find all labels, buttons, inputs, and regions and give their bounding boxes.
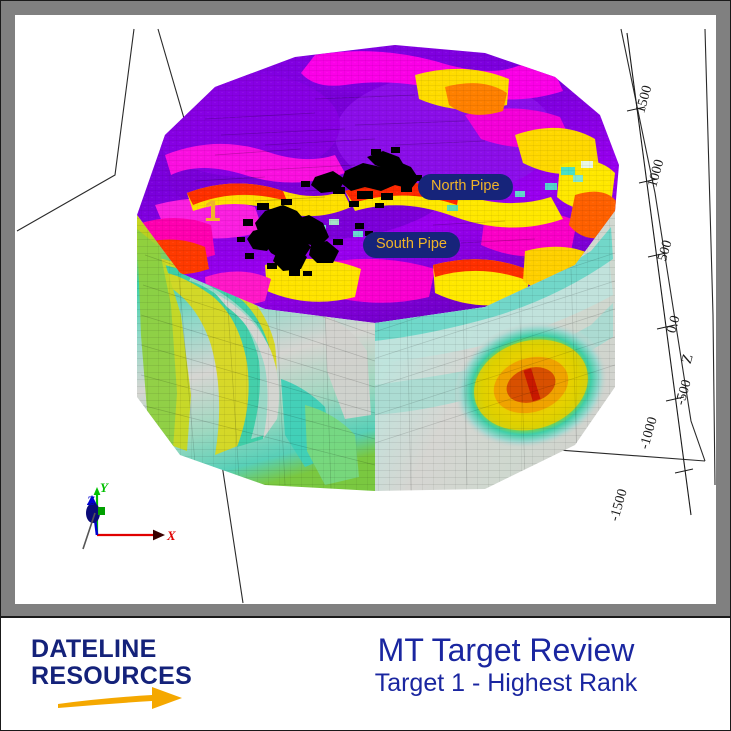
orientation-triad (83, 487, 165, 549)
model-viewport[interactable]: 1500 1000 500 0.0 -500 -1000 -1500 Z X Y… (15, 15, 716, 604)
logo-arrow-icon (56, 682, 206, 712)
slide-title-block: MT Target Review Target 1 - Highest Rank (301, 632, 711, 698)
north-pipe-label[interactable]: North Pipe (418, 174, 513, 200)
triad-y-label: Y (100, 480, 108, 496)
logo-line-1: DATELINE (31, 636, 261, 663)
slide-title: MT Target Review (301, 632, 711, 668)
slide-subtitle: Target 1 - Highest Rank (301, 668, 711, 698)
triad-x-label: X (167, 528, 176, 544)
footer-bar: DATELINE RESOURCES MT Target Review Targ… (1, 620, 730, 730)
viewport-frame: 1500 1000 500 0.0 -500 -1000 -1500 Z X Y… (1, 1, 730, 618)
triad-z-label: Z (87, 493, 95, 509)
south-pipe-label[interactable]: South Pipe (363, 232, 460, 258)
slide-root: 1500 1000 500 0.0 -500 -1000 -1500 Z X Y… (0, 0, 731, 731)
target-number-label: 1 (204, 197, 221, 227)
